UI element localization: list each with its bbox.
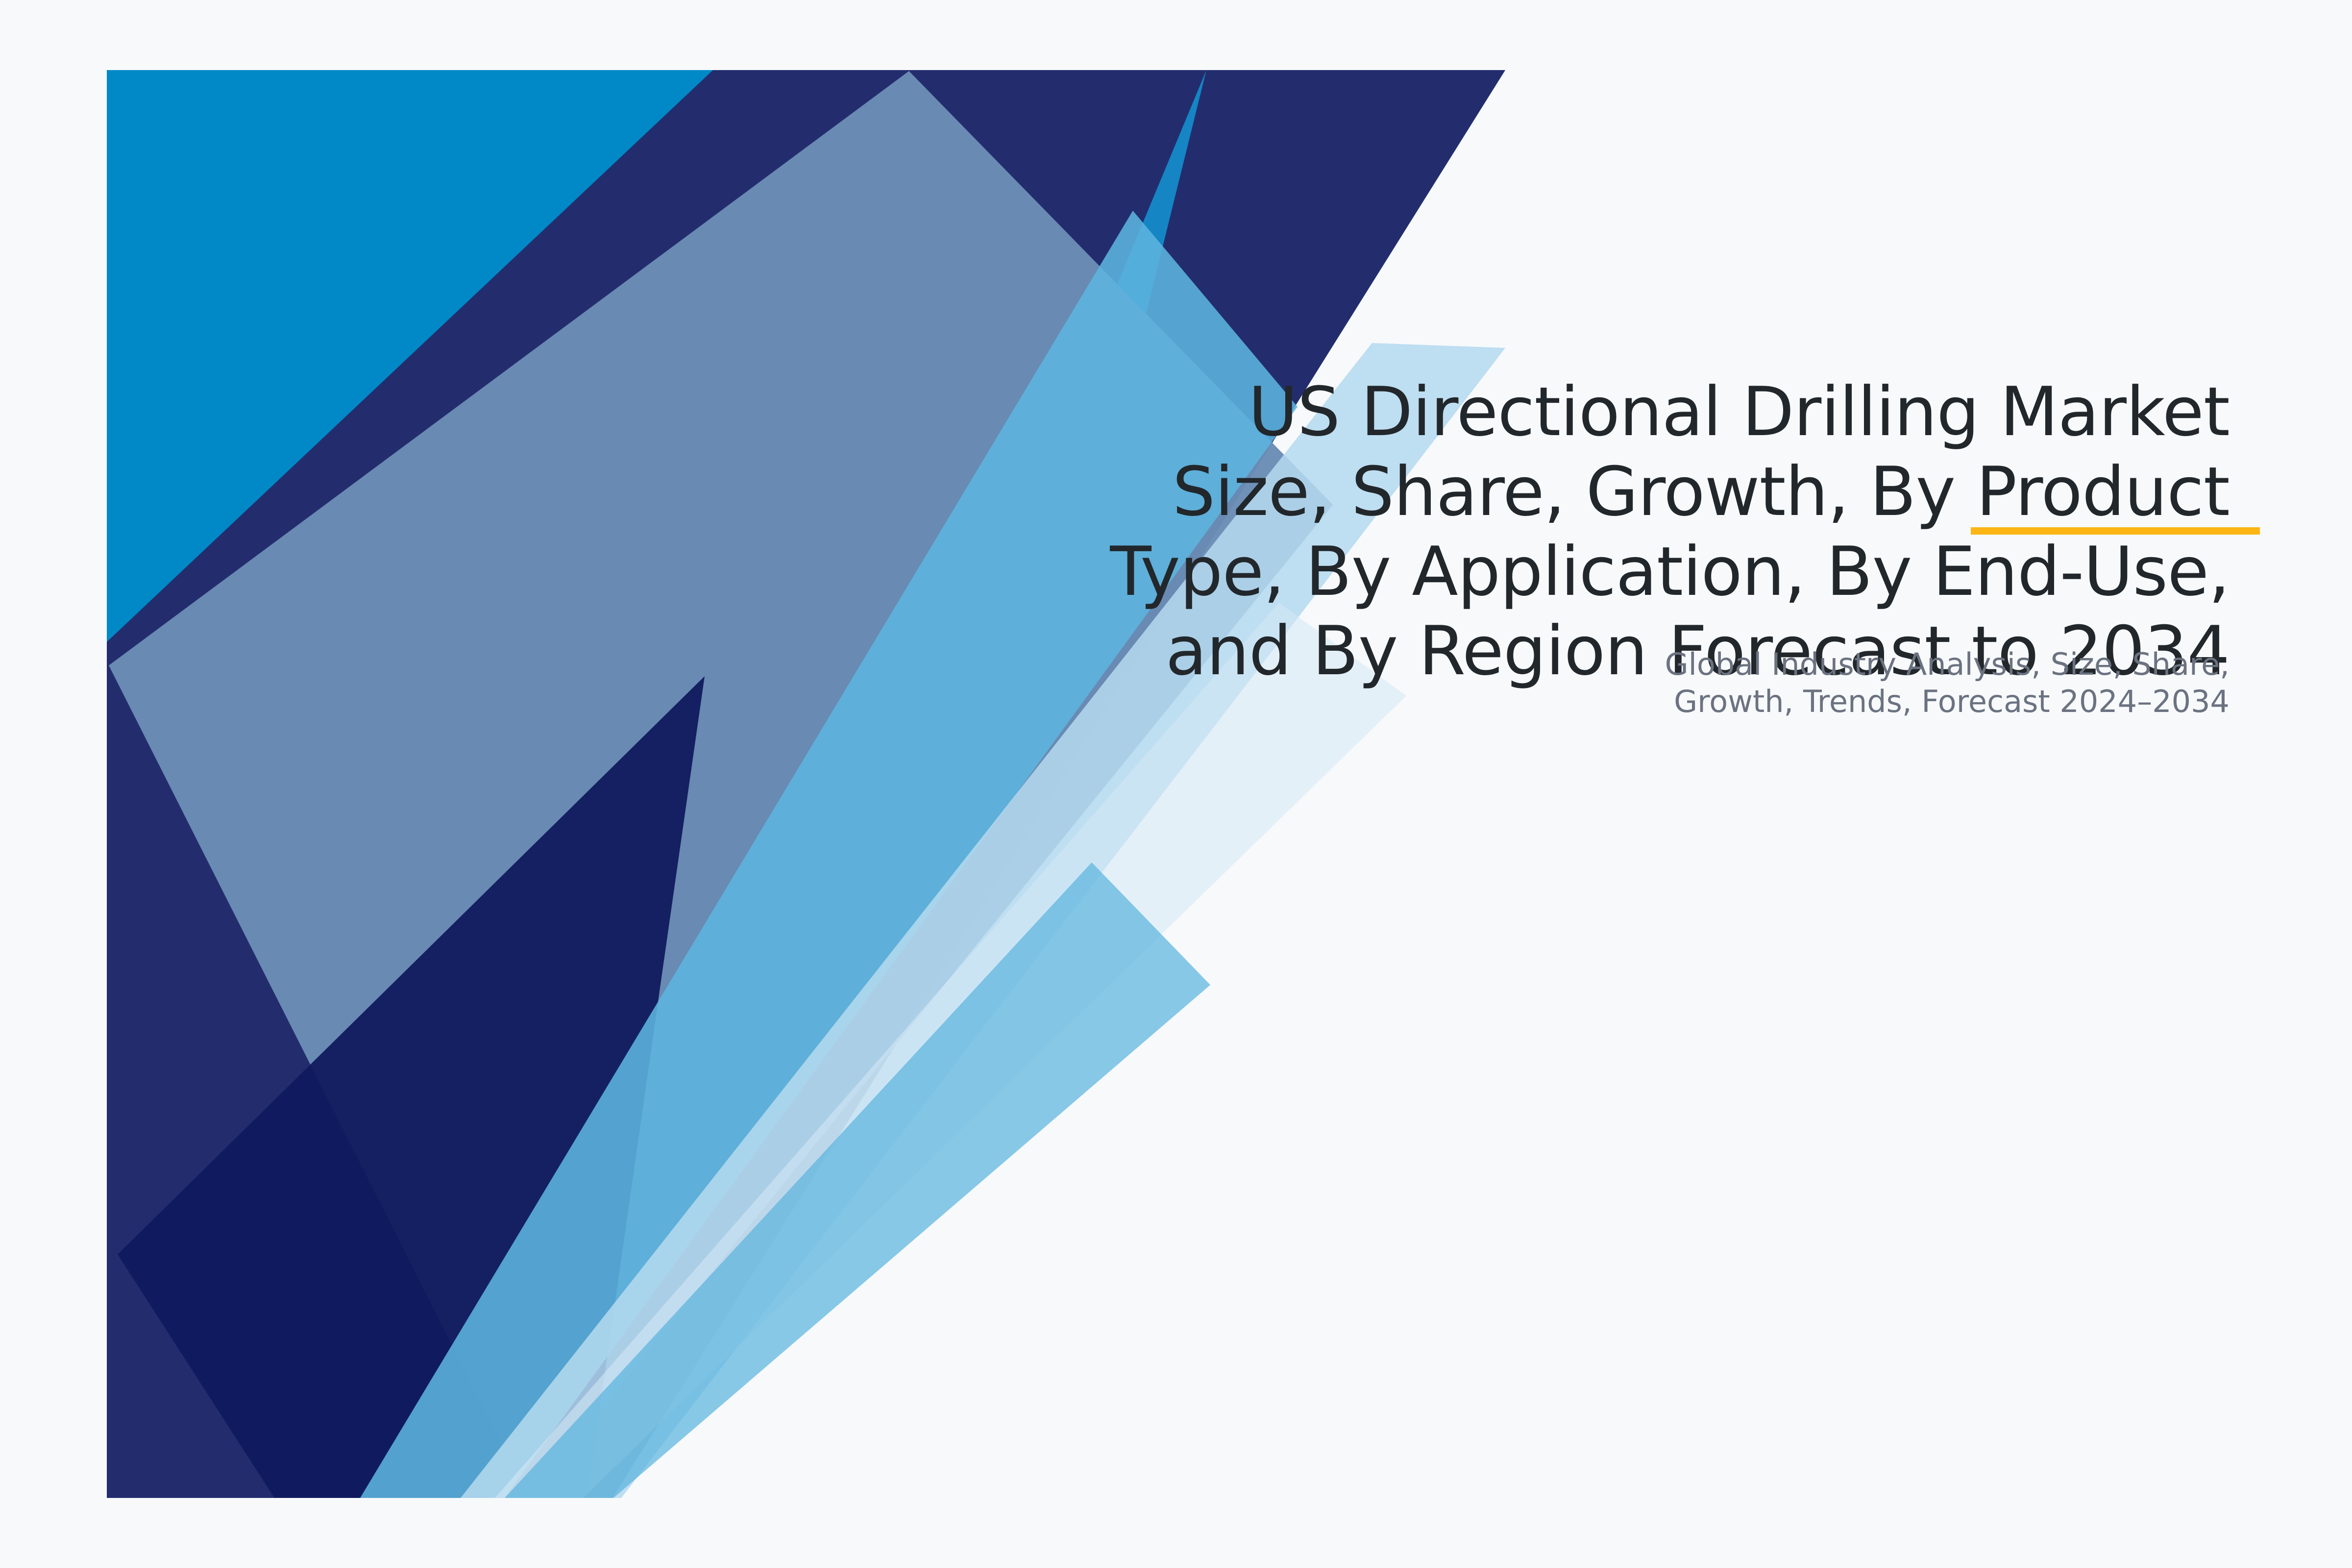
cover-subtitle: Global Industry Analysis, Size, Share, G… xyxy=(931,646,2229,720)
report-cover: US Directional Drilling Market Size, Sha… xyxy=(0,0,2352,1568)
abstract-geometric-artwork xyxy=(0,0,2352,1568)
title-accent-underline xyxy=(1971,527,2260,535)
